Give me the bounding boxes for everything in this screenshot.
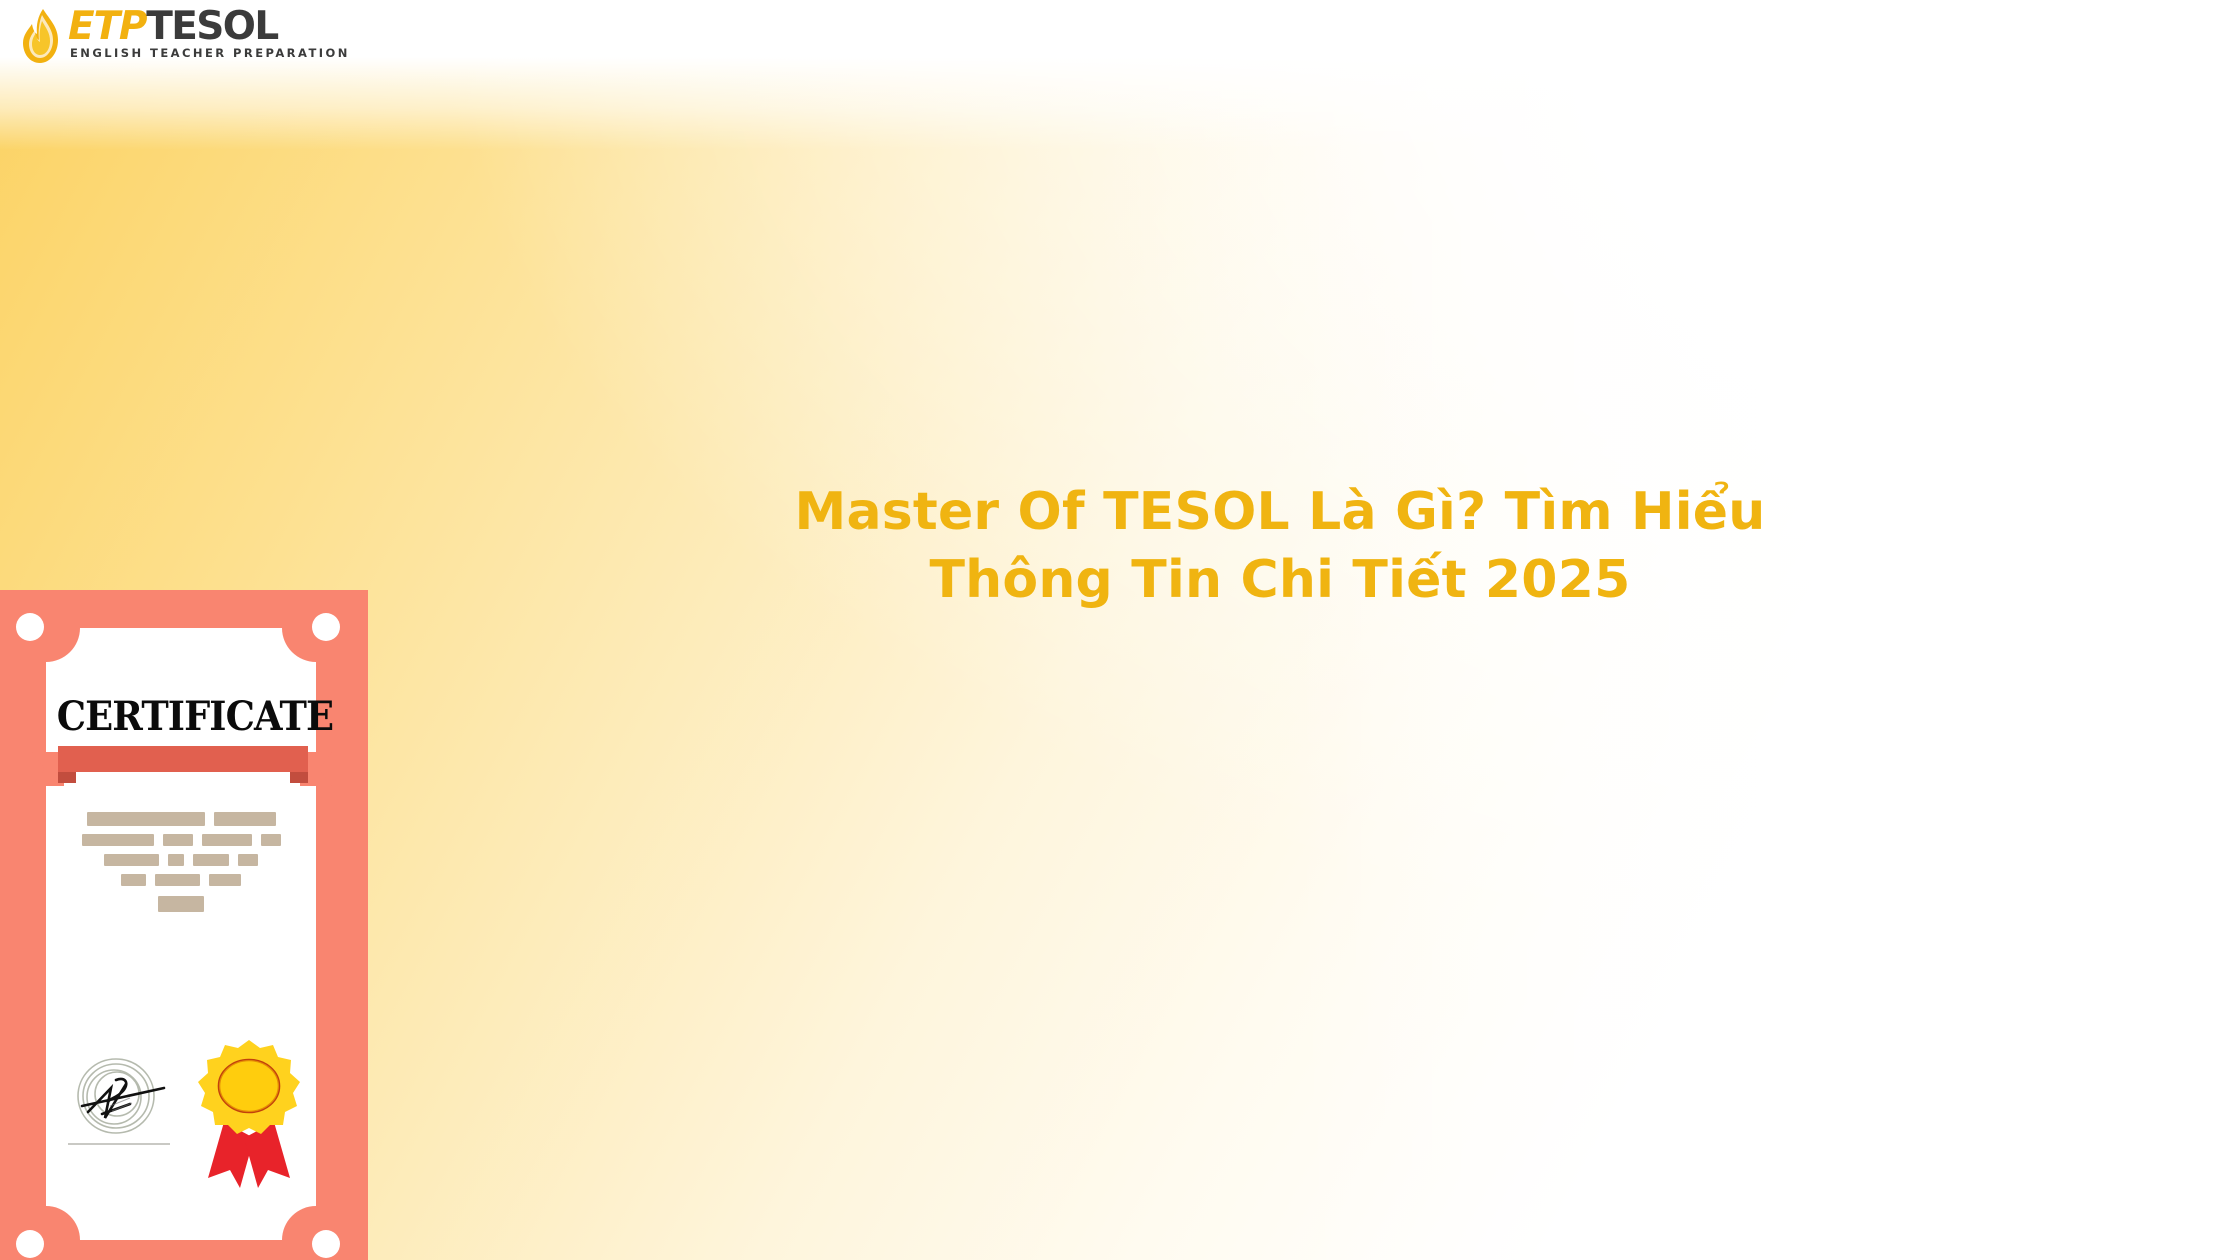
slide-canvas: ETPTESOL ENGLISH TEACHER PREPARATION Mas… xyxy=(0,0,2240,1260)
background-right-fade xyxy=(1290,0,2240,1260)
placeholder-bar xyxy=(104,854,159,866)
placeholder-bar xyxy=(202,834,252,846)
flame-icon xyxy=(18,7,64,65)
ribbon-band xyxy=(58,746,308,772)
page-title-line-1: Master Of TESOL Là Gì? Tìm Hiểu xyxy=(660,478,1900,546)
certificate-title: CERTIFICATE xyxy=(57,695,305,739)
brand-logo[interactable]: ETPTESOL ENGLISH TEACHER PREPARATION xyxy=(18,6,348,68)
certificate-corner-dot xyxy=(16,1230,44,1258)
logo-word-tesol: TESOL xyxy=(146,4,277,49)
placeholder-bar xyxy=(87,812,205,826)
placeholder-bar xyxy=(163,834,193,846)
logo-tagline: ENGLISH TEACHER PREPARATION xyxy=(70,46,350,60)
placeholder-bar xyxy=(193,854,229,866)
placeholder-bar xyxy=(82,834,154,846)
placeholder-row xyxy=(46,874,316,886)
placeholder-bar xyxy=(121,874,146,886)
placeholder-row xyxy=(46,896,316,912)
placeholder-bar xyxy=(155,874,200,886)
placeholder-bar xyxy=(158,896,204,912)
placeholder-bar xyxy=(214,812,276,826)
placeholder-row xyxy=(46,854,316,866)
placeholder-row xyxy=(46,834,316,846)
award-seal-icon xyxy=(190,1038,308,1188)
placeholder-bar xyxy=(261,834,281,846)
signature-stamp xyxy=(64,1040,174,1155)
certificate-illustration: CERTIFICATE xyxy=(0,590,368,1260)
logo-word-etp: ETP xyxy=(68,4,146,49)
certificate-corner-dot xyxy=(312,1230,340,1258)
certificate-placeholder-text xyxy=(46,812,316,920)
certificate-crop-edge xyxy=(365,590,368,1260)
certificate-corner-dot xyxy=(312,613,340,641)
ribbon-fold-left xyxy=(58,772,76,783)
certificate-corner-dot xyxy=(16,613,44,641)
certificate-border: CERTIFICATE xyxy=(0,590,368,1260)
ribbon-fold-right xyxy=(290,772,308,783)
placeholder-bar xyxy=(238,854,258,866)
placeholder-bar xyxy=(168,854,184,866)
page-title: Master Of TESOL Là Gì? Tìm Hiểu Thông Ti… xyxy=(660,478,1900,614)
page-title-line-2: Thông Tin Chi Tiết 2025 xyxy=(660,546,1900,614)
placeholder-bar xyxy=(209,874,241,886)
certificate-ribbon xyxy=(32,746,332,788)
placeholder-row xyxy=(46,812,316,826)
